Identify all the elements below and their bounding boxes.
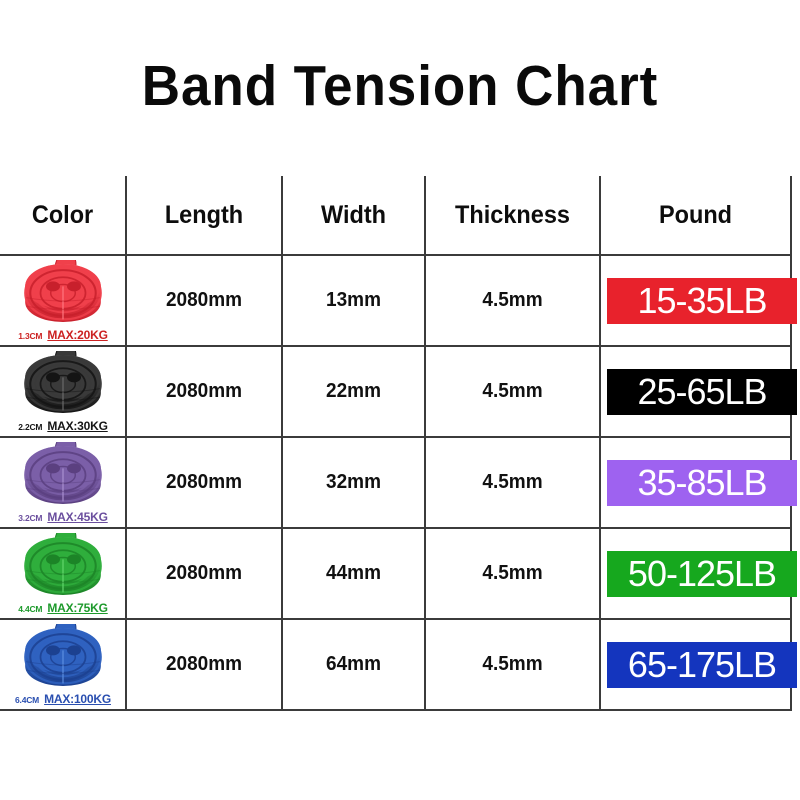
band-max-load-label: MAX:45KG — [47, 510, 107, 524]
column-header-pound: Pound — [606, 176, 786, 255]
band-pound-cell: 35-85LB — [600, 437, 791, 528]
pound-range-text: 15-35LB — [637, 283, 766, 319]
band-caption: 6.4CMMAX:100KG — [0, 691, 126, 707]
band-width-cell-text: 22mm — [287, 380, 421, 403]
band-length-cell-text: 2080mm — [131, 471, 277, 494]
column-header-thickness: Thickness — [430, 176, 595, 255]
pound-badge: 15-35LB — [607, 278, 797, 324]
band-thickness-cell: 4.5mm — [425, 255, 600, 346]
band-thickness-cm-label: 4.4CM — [18, 604, 42, 614]
band-color-cell-purple: 3.2CMMAX:45KG — [0, 437, 126, 528]
band-color-cell-blue: 6.4CMMAX:100KG — [0, 619, 126, 710]
band-tension-table: Color Length Width Thickness Pound 1.3CM… — [0, 176, 792, 711]
band-thickness-cm-label: 3.2CM — [18, 513, 42, 523]
band-color-cell-green: 4.4CMMAX:75KG — [0, 528, 126, 619]
band-width-cell-text: 64mm — [287, 653, 421, 676]
band-caption: 2.2CMMAX:30KG — [0, 418, 126, 434]
band-thickness-cm-label: 6.4CM — [15, 695, 39, 705]
pound-badge: 35-85LB — [607, 460, 797, 506]
column-header-width: Width — [286, 176, 420, 255]
pound-range-text: 65-175LB — [628, 647, 776, 683]
band-coil-image-red — [20, 260, 106, 326]
band-max-load-label: MAX:30KG — [47, 419, 107, 433]
band-width-cell: 64mm — [282, 619, 425, 710]
pound-range-text: 25-65LB — [637, 374, 766, 410]
band-width-cell-text: 32mm — [287, 471, 421, 494]
table-row: 2.2CMMAX:30KG2080mm22mm4.5mm25-65LB — [0, 346, 791, 437]
band-thickness-cell: 4.5mm — [425, 528, 600, 619]
band-width-cell: 22mm — [282, 346, 425, 437]
band-color-cell-red: 1.3CMMAX:20KG — [0, 255, 126, 346]
table-row: 1.3CMMAX:20KG2080mm13mm4.5mm15-35LB — [0, 255, 791, 346]
pound-badge: 25-65LB — [607, 369, 797, 415]
band-length-cell: 2080mm — [126, 255, 282, 346]
band-thickness-cell-text: 4.5mm — [430, 653, 594, 676]
band-color-cell-black: 2.2CMMAX:30KG — [0, 346, 126, 437]
band-length-cell: 2080mm — [126, 437, 282, 528]
band-pound-cell: 50-125LB — [600, 528, 791, 619]
band-caption: 3.2CMMAX:45KG — [0, 509, 126, 525]
band-width-cell: 13mm — [282, 255, 425, 346]
band-coil-image-green — [20, 533, 106, 599]
band-length-cell: 2080mm — [126, 346, 282, 437]
pound-range-text: 50-125LB — [628, 556, 776, 592]
band-coil-image-blue — [20, 624, 106, 690]
band-thickness-cell-text: 4.5mm — [430, 562, 594, 585]
pound-range-text: 35-85LB — [637, 465, 766, 501]
band-tension-chart-page: Band Tension Chart Color Length Width Th… — [0, 0, 800, 800]
band-length-cell-text: 2080mm — [131, 653, 277, 676]
band-thickness-cm-label: 2.2CM — [18, 422, 42, 432]
table-row: 3.2CMMAX:45KG2080mm32mm4.5mm35-85LB — [0, 437, 791, 528]
band-max-load-label: MAX:20KG — [47, 328, 107, 342]
table-header-row: Color Length Width Thickness Pound — [0, 176, 791, 255]
band-width-cell-text: 13mm — [287, 289, 421, 312]
band-pound-cell: 15-35LB — [600, 255, 791, 346]
band-thickness-cm-label: 1.3CM — [18, 331, 42, 341]
band-length-cell: 2080mm — [126, 619, 282, 710]
band-thickness-cell: 4.5mm — [425, 437, 600, 528]
band-width-cell-text: 44mm — [287, 562, 421, 585]
band-max-load-label: MAX:100KG — [44, 692, 111, 706]
band-width-cell: 44mm — [282, 528, 425, 619]
band-length-cell-text: 2080mm — [131, 562, 277, 585]
band-max-load-label: MAX:75KG — [47, 601, 107, 615]
band-coil-image-purple — [20, 442, 106, 508]
band-thickness-cell: 4.5mm — [425, 619, 600, 710]
band-thickness-cell-text: 4.5mm — [430, 471, 594, 494]
band-caption: 1.3CMMAX:20KG — [0, 327, 126, 343]
band-thickness-cell-text: 4.5mm — [430, 289, 594, 312]
band-thickness-cell: 4.5mm — [425, 346, 600, 437]
band-pound-cell: 25-65LB — [600, 346, 791, 437]
band-coil-image-black — [20, 351, 106, 417]
band-length-cell: 2080mm — [126, 528, 282, 619]
table-row: 6.4CMMAX:100KG2080mm64mm4.5mm65-175LB — [0, 619, 791, 710]
band-caption: 4.4CMMAX:75KG — [0, 600, 126, 616]
band-length-cell-text: 2080mm — [131, 380, 277, 403]
pound-badge: 50-125LB — [607, 551, 797, 597]
pound-badge: 65-175LB — [607, 642, 797, 688]
column-header-color: Color — [4, 176, 122, 255]
page-title: Band Tension Chart — [28, 58, 772, 115]
band-width-cell: 32mm — [282, 437, 425, 528]
band-length-cell-text: 2080mm — [131, 289, 277, 312]
table-body: 1.3CMMAX:20KG2080mm13mm4.5mm15-35LB2.2CM… — [0, 255, 791, 710]
column-header-length: Length — [131, 176, 278, 255]
band-pound-cell: 65-175LB — [600, 619, 791, 710]
table-row: 4.4CMMAX:75KG2080mm44mm4.5mm50-125LB — [0, 528, 791, 619]
band-thickness-cell-text: 4.5mm — [430, 380, 594, 403]
